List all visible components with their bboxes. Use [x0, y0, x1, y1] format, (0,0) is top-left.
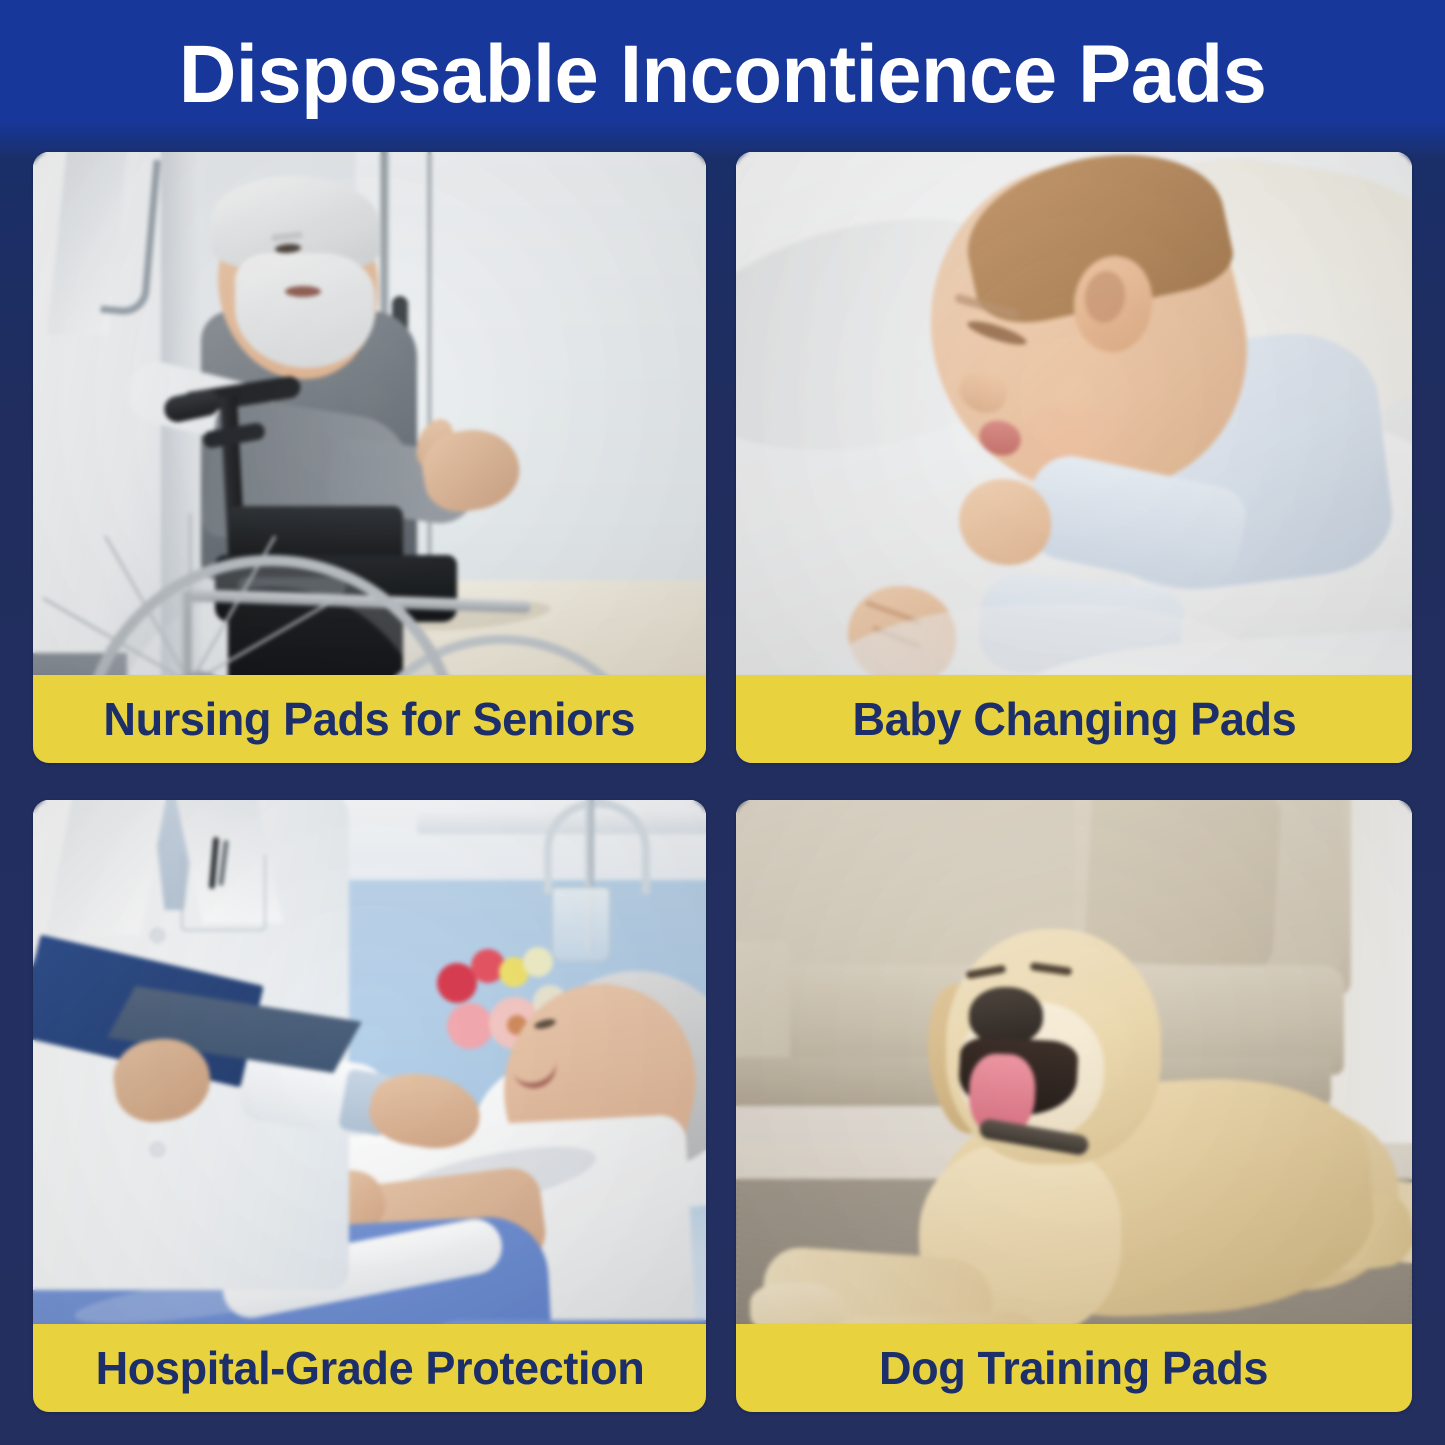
card-caption-text: Hospital-Grade Protection	[95, 1345, 644, 1391]
card-caption-bar: Baby Changing Pads	[736, 675, 1412, 763]
card-caption-text: Nursing Pads for Seniors	[104, 696, 636, 742]
feature-card-dog-training-pads[interactable]: Dog Training Pads	[736, 800, 1412, 1412]
photo-hospital-bed	[33, 800, 706, 1412]
page-title: Disposable Incontience Pads	[179, 34, 1267, 116]
photo-golden-retriever	[736, 800, 1412, 1412]
card-caption-text: Dog Training Pads	[879, 1345, 1268, 1391]
photo-senior-wheelchair	[33, 152, 706, 763]
feature-card-baby-changing-pads[interactable]: Baby Changing Pads	[736, 152, 1412, 763]
feature-card-hospital-grade-protection[interactable]: Hospital-Grade Protection	[33, 800, 706, 1412]
feature-card-nursing-pads-for-seniors[interactable]: Nursing Pads for Seniors	[33, 152, 706, 763]
feature-grid: Nursing Pads for Seniors	[33, 152, 1412, 1412]
card-caption-text: Baby Changing Pads	[852, 696, 1296, 742]
product-infographic: Disposable Incontience Pads	[0, 0, 1445, 1445]
card-caption-bar: Dog Training Pads	[736, 1324, 1412, 1412]
photo-sleeping-baby	[736, 152, 1412, 763]
card-caption-bar: Nursing Pads for Seniors	[33, 675, 706, 763]
card-caption-bar: Hospital-Grade Protection	[33, 1324, 706, 1412]
header-banner: Disposable Incontience Pads	[0, 0, 1445, 150]
